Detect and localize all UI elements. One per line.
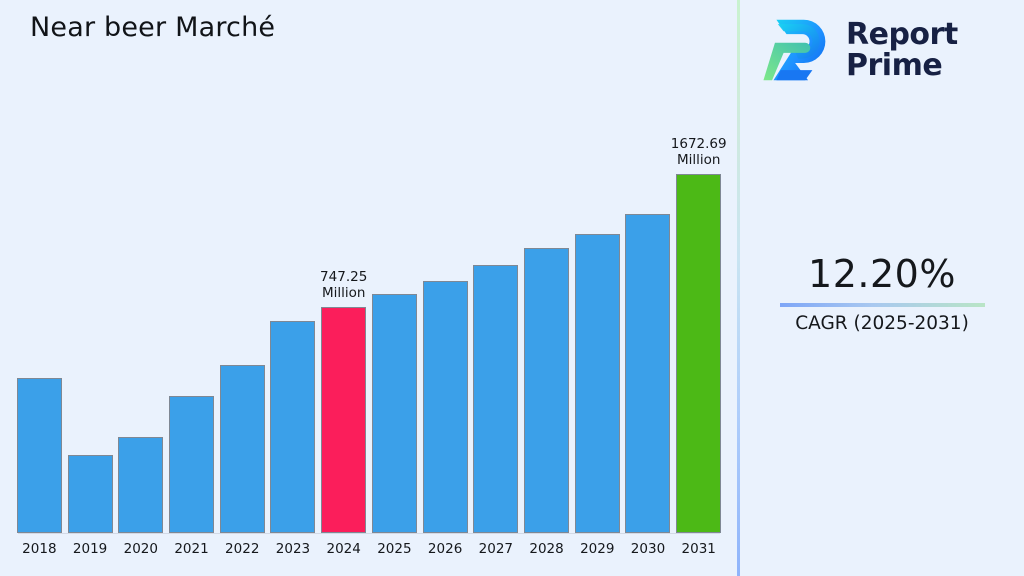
bar-chart-plot-area: 747.25Million1672.69Million <box>0 100 738 534</box>
brand-name-line1: Report <box>846 17 958 52</box>
bar-value-number: 747.25 <box>320 269 367 285</box>
bar-slot <box>521 100 572 533</box>
bar-2019[interactable] <box>68 455 113 533</box>
x-tick-2026: 2026 <box>420 534 471 564</box>
x-tick-2029: 2029 <box>572 534 623 564</box>
x-tick-2025: 2025 <box>369 534 420 564</box>
bar-2031[interactable] <box>676 174 721 533</box>
x-tick-2023: 2023 <box>268 534 319 564</box>
bar-slot <box>369 100 420 533</box>
bar-value-label: 747.25Million <box>320 269 367 301</box>
x-tick-2027: 2027 <box>470 534 521 564</box>
bar-2022[interactable] <box>220 365 265 533</box>
x-tick-2022: 2022 <box>217 534 268 564</box>
bar-2024[interactable] <box>321 307 366 533</box>
bar-slot <box>166 100 217 533</box>
brand-panel: Report Prime 12.20% CAGR (2025-2031) <box>740 0 1024 576</box>
x-tick-2028: 2028 <box>521 534 572 564</box>
bar-slot <box>65 100 116 533</box>
x-tick-2021: 2021 <box>166 534 217 564</box>
brand-wordmark: Report Prime <box>846 19 958 81</box>
x-tick-2031: 2031 <box>673 534 724 564</box>
x-tick-2018: 2018 <box>14 534 65 564</box>
bar-2027[interactable] <box>473 265 518 533</box>
bar-value-unit: Million <box>677 152 720 168</box>
bar-value-unit: Million <box>322 285 365 301</box>
cagr-caption: CAGR (2025-2031) <box>740 313 1024 334</box>
bar-2018[interactable] <box>17 378 62 533</box>
bar-slot <box>420 100 471 533</box>
bar-value-label: 1672.69Million <box>671 136 727 168</box>
cagr-block: 12.20% CAGR (2025-2031) <box>740 252 1024 334</box>
report-prime-logo: Report Prime <box>762 14 958 86</box>
x-tick-2019: 2019 <box>65 534 116 564</box>
bar-slot: 1672.69Million <box>673 100 724 533</box>
bar-slot <box>470 100 521 533</box>
x-tick-2020: 2020 <box>115 534 166 564</box>
x-tick-2024: 2024 <box>318 534 369 564</box>
bar-2021[interactable] <box>169 396 214 533</box>
x-axis-tick-labels: 2018201920202021202220232024202520262027… <box>0 534 738 564</box>
brand-name-line2: Prime <box>846 48 942 83</box>
bar-2030[interactable] <box>625 214 670 533</box>
bar-slot <box>268 100 319 533</box>
bar-2028[interactable] <box>524 248 569 533</box>
x-tick-2030: 2030 <box>623 534 674 564</box>
bar-slot <box>572 100 623 533</box>
bar-2023[interactable] <box>270 321 315 533</box>
bar-slot <box>217 100 268 533</box>
bar-slot: 747.25Million <box>318 100 369 533</box>
bar-slot <box>115 100 166 533</box>
bar-series: 747.25Million1672.69Million <box>0 100 738 533</box>
page-root: Near beer Marché 747.25Million1672.69Mil… <box>0 0 1024 576</box>
page-title: Near beer Marché <box>30 12 275 43</box>
bar-2026[interactable] <box>423 281 468 533</box>
cagr-value: 12.20% <box>740 252 1024 296</box>
bar-slot <box>14 100 65 533</box>
bar-2020[interactable] <box>118 437 163 533</box>
report-prime-r-logo-icon <box>762 14 834 86</box>
bar-value-number: 1672.69 <box>671 136 727 152</box>
cagr-divider-rule <box>780 303 985 307</box>
bar-slot <box>623 100 674 533</box>
bar-2025[interactable] <box>372 294 417 533</box>
chart-panel: Near beer Marché 747.25Million1672.69Mil… <box>0 0 738 576</box>
bar-2029[interactable] <box>575 234 620 533</box>
